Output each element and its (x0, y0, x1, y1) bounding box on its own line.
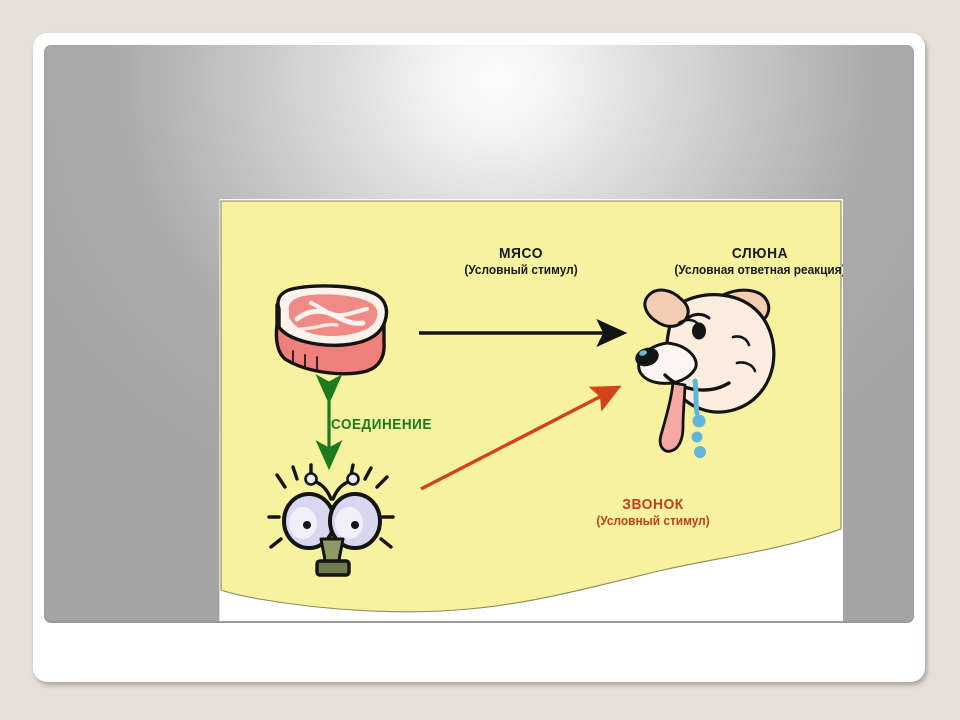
slide-content-panel: МЯСО (Условный стимул) СЛЮНА (Условная о… (44, 45, 914, 623)
label-connection-title: СОЕДИНЕНИЕ (331, 417, 432, 433)
label-bell: ЗВОНОК (Условный стимул) (553, 496, 753, 528)
label-meat-title: МЯСО (429, 245, 613, 263)
label-bell-subtitle: (Условный стимул) (558, 514, 748, 529)
label-saliva-title: СЛЮНА (627, 245, 843, 263)
diagram-picture: МЯСО (Условный стимул) СЛЮНА (Условная о… (219, 199, 843, 621)
slide-card: МЯСО (Условный стимул) СЛЮНА (Условная о… (33, 33, 925, 682)
label-meat-subtitle: (Условный стимул) (426, 263, 616, 278)
steak-illustration (276, 286, 386, 374)
label-meat: МЯСО (Условный стимул) (421, 245, 621, 277)
label-saliva: СЛЮНА (Условная ответная реакция) (615, 245, 843, 277)
label-connection: СОЕДИНЕНИЕ (331, 417, 480, 433)
label-saliva-subtitle: (Условная ответная реакция) (622, 263, 843, 278)
label-bell-title: ЗВОНОК (561, 496, 745, 514)
